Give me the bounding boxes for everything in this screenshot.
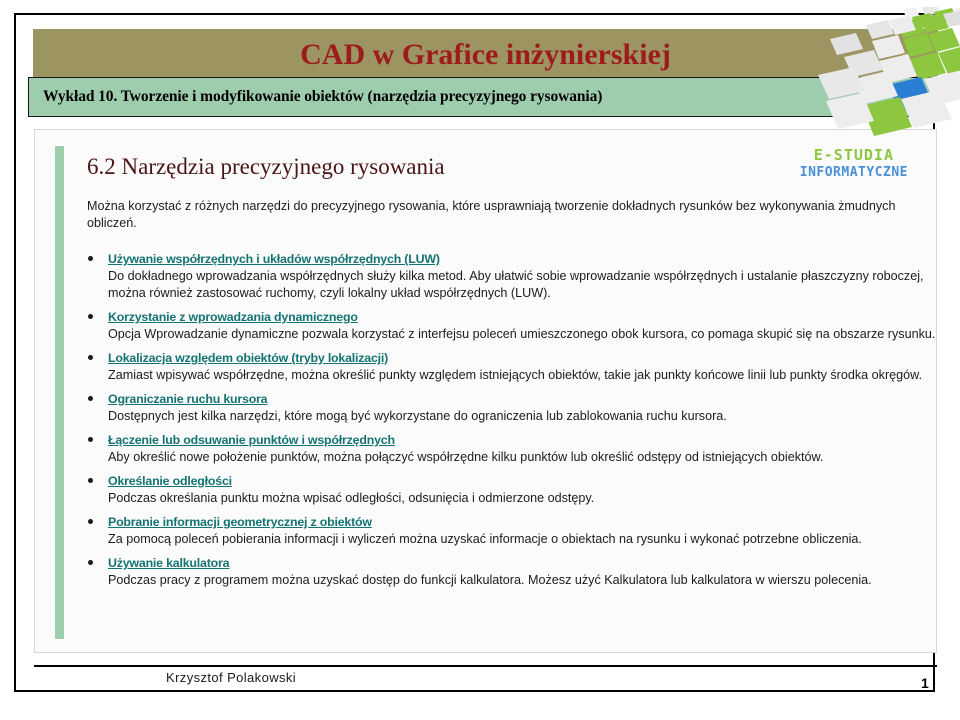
- bullet-description: Podczas określania punktu można wpisać o…: [108, 490, 940, 507]
- slide-title: CAD w Grafice inżynierskiej: [33, 29, 938, 81]
- bullet-dot-icon: [88, 437, 93, 442]
- list-item: Używanie kalkulatora Podczas pracy z pro…: [80, 556, 940, 589]
- footer-divider: [34, 665, 937, 667]
- feature-bullet-list: Używanie współrzędnych i układów współrz…: [80, 252, 940, 597]
- bullet-description: Zamiast wpisywać współrzędne, można okre…: [108, 367, 940, 384]
- list-item: Określanie odległości Podczas określania…: [80, 474, 940, 507]
- bullet-link[interactable]: Lokalizacja względem obiektów (tryby lok…: [108, 351, 940, 366]
- list-item: Łączenie lub odsuwanie punktów i współrz…: [80, 433, 940, 466]
- bullet-dot-icon: [88, 560, 93, 565]
- bullet-link[interactable]: Używanie kalkulatora: [108, 556, 940, 571]
- slide-subtitle: Wykład 10. Tworzenie i modyfikowanie obi…: [43, 78, 931, 116]
- bullet-dot-icon: [88, 355, 93, 360]
- bullet-link[interactable]: Ograniczanie ruchu kursora: [108, 392, 940, 407]
- bullet-description: Za pomocą poleceń pobierania informacji …: [108, 531, 940, 548]
- bullet-link[interactable]: Korzystanie z wprowadzania dynamicznego: [108, 310, 940, 325]
- bullet-link[interactable]: Łączenie lub odsuwanie punktów i współrz…: [108, 433, 940, 448]
- list-item: Korzystanie z wprowadzania dynamicznego …: [80, 310, 940, 343]
- list-item: Ograniczanie ruchu kursora Dostępnych je…: [80, 392, 940, 425]
- list-item: Pobranie informacji geometrycznej z obie…: [80, 515, 940, 548]
- bullet-dot-icon: [88, 256, 93, 261]
- bullet-link[interactable]: Używanie współrzędnych i układów współrz…: [108, 252, 940, 267]
- bullet-link[interactable]: Określanie odległości: [108, 474, 940, 489]
- bullet-dot-icon: [88, 519, 93, 524]
- bullet-dot-icon: [88, 314, 93, 319]
- logo-line-primary: E-STUDIA: [800, 146, 908, 165]
- bullet-dot-icon: [88, 396, 93, 401]
- bullet-link[interactable]: Pobranie informacji geometrycznej z obie…: [108, 515, 940, 530]
- list-item: Lokalizacja względem obiektów (tryby lok…: [80, 351, 940, 384]
- section-heading: 6.2 Narzędzia precyzyjnego rysowania: [87, 154, 445, 180]
- left-accent-bar: [55, 146, 64, 639]
- page-number: 1: [921, 675, 929, 691]
- intro-paragraph: Można korzystać z różnych narzędzi do pr…: [87, 198, 912, 232]
- bullet-description: Do dokładnego wprowadzania współrzędnych…: [108, 268, 940, 302]
- slide-frame: CAD w Grafice inżynierskiej Wykład 10. T…: [14, 13, 935, 692]
- footer-author: Krzysztof Polakowski: [166, 670, 296, 685]
- bullet-description: Opcja Wprowadzanie dynamiczne pozwala ko…: [108, 326, 940, 343]
- list-item: Używanie współrzędnych i układów współrz…: [80, 252, 940, 302]
- bullet-description: Podczas pracy z programem można uzyskać …: [108, 572, 940, 589]
- logo-line-secondary: INFORMATYCZNE: [800, 165, 908, 181]
- slide-subtitle-bar: Wykład 10. Tworzenie i modyfikowanie obi…: [28, 77, 940, 117]
- slide-title-bar: CAD w Grafice inżynierskiej: [33, 29, 938, 81]
- bullet-description: Dostępnych jest kilka narzędzi, które mo…: [108, 408, 940, 425]
- bullet-dot-icon: [88, 478, 93, 483]
- bullet-description: Aby określić nowe położenie punktów, moż…: [108, 449, 940, 466]
- e-studia-logo: E-STUDIA INFORMATYCZNE: [800, 146, 908, 181]
- content-panel: E-STUDIA INFORMATYCZNE 6.2 Narzędzia pre…: [34, 129, 937, 653]
